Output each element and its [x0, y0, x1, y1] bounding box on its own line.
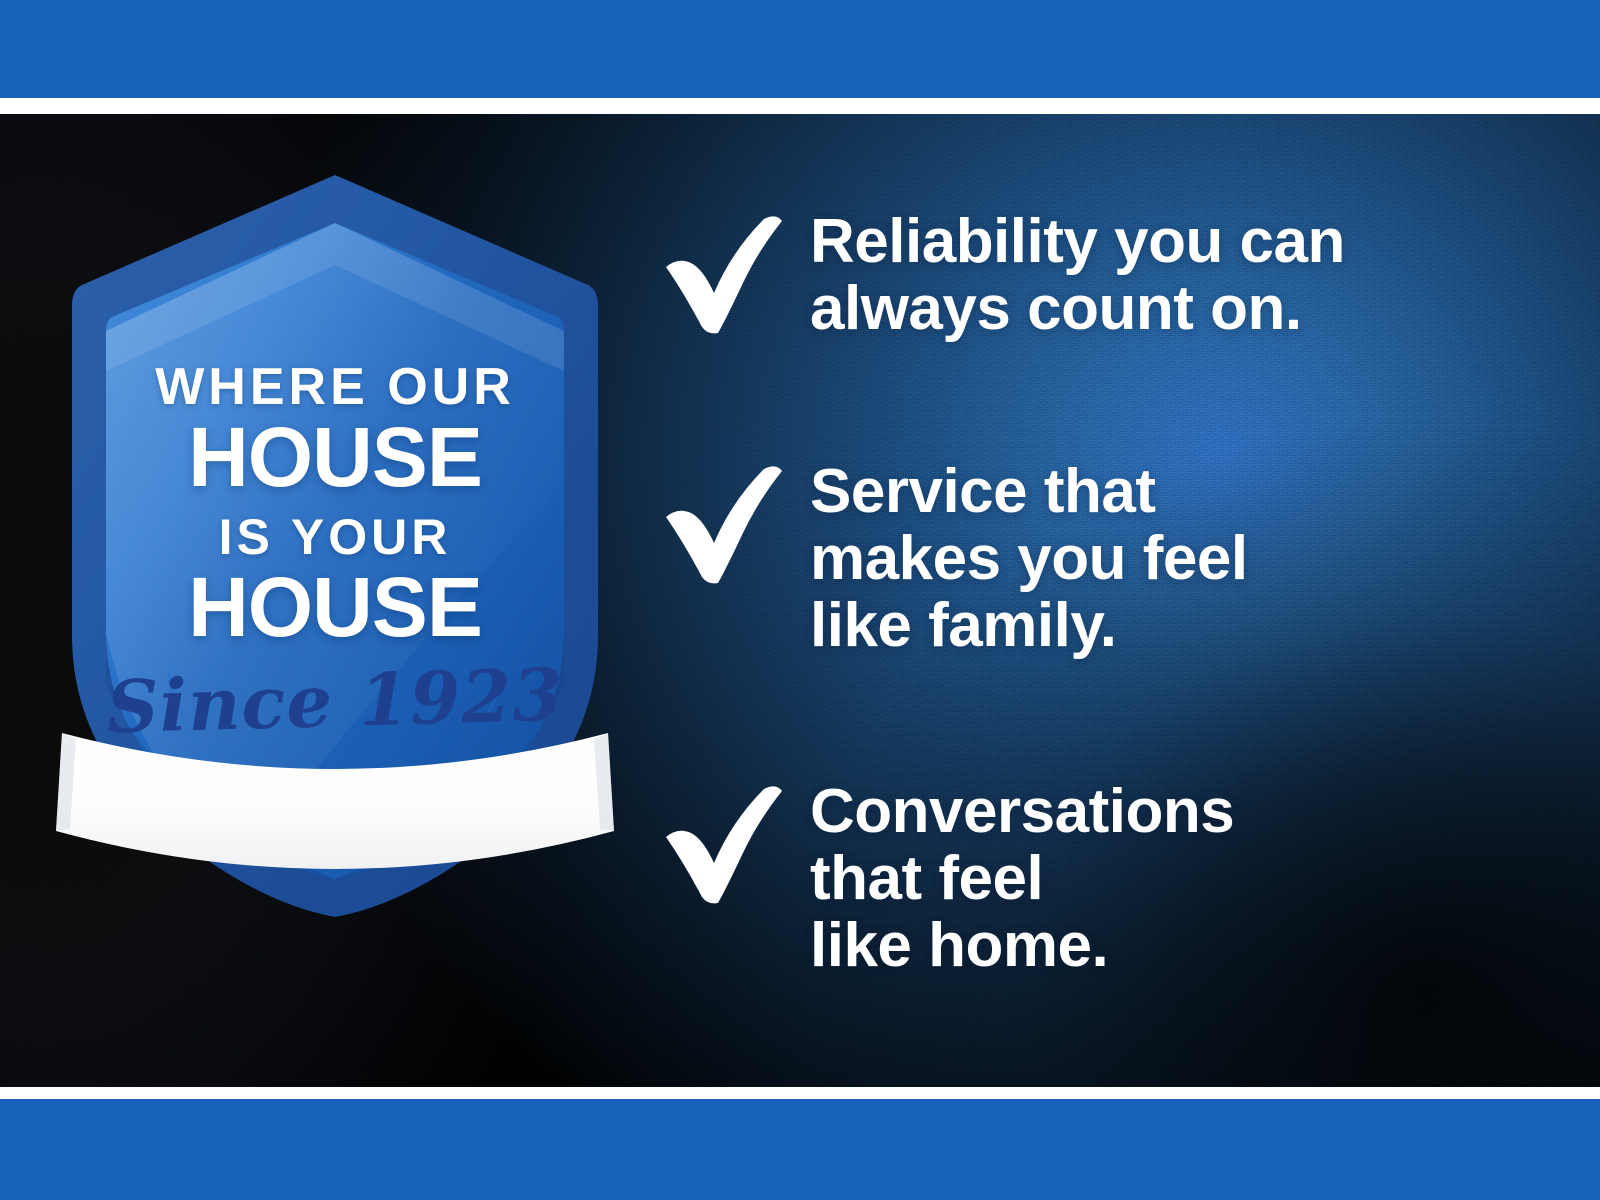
top-white-divider — [0, 98, 1600, 114]
check-mark-icon — [660, 459, 810, 585]
benefit-line: like family. — [810, 593, 1560, 660]
top-brand-bar — [0, 0, 1600, 98]
benefit-line: always count on. — [810, 276, 1560, 343]
benefit-text-service: Service that makes you feel like family. — [810, 459, 1560, 660]
benefit-line: Conversations — [810, 779, 1560, 846]
check-mark-icon — [660, 779, 810, 905]
benefit-item-reliability: Reliability you can always count on. — [660, 209, 1560, 343]
promo-graphic: WHERE OUR HOUSE IS YOUR HOUSE Since 1923… — [0, 0, 1600, 1200]
benefit-item-service: Service that makes you feel like family. — [660, 459, 1560, 660]
benefit-text-conversations: Conversations that feel like home. — [810, 779, 1560, 980]
benefit-line: Reliability you can — [810, 209, 1560, 276]
bottom-brand-bar — [0, 1099, 1600, 1200]
check-mark-icon — [660, 209, 810, 335]
benefit-item-conversations: Conversations that feel like home. — [660, 779, 1560, 980]
bottom-white-divider — [0, 1087, 1600, 1099]
benefit-line: like home. — [810, 913, 1560, 980]
benefit-line: makes you feel — [810, 526, 1560, 593]
benefit-text-reliability: Reliability you can always count on. — [810, 209, 1560, 343]
shield-badge-icon — [40, 165, 630, 925]
benefit-line: that feel — [810, 846, 1560, 913]
benefit-line: Service that — [810, 459, 1560, 526]
shield-badge: WHERE OUR HOUSE IS YOUR HOUSE Since 1923 — [40, 165, 630, 925]
benefit-list: Reliability you can always count on. Ser… — [660, 114, 1560, 1087]
